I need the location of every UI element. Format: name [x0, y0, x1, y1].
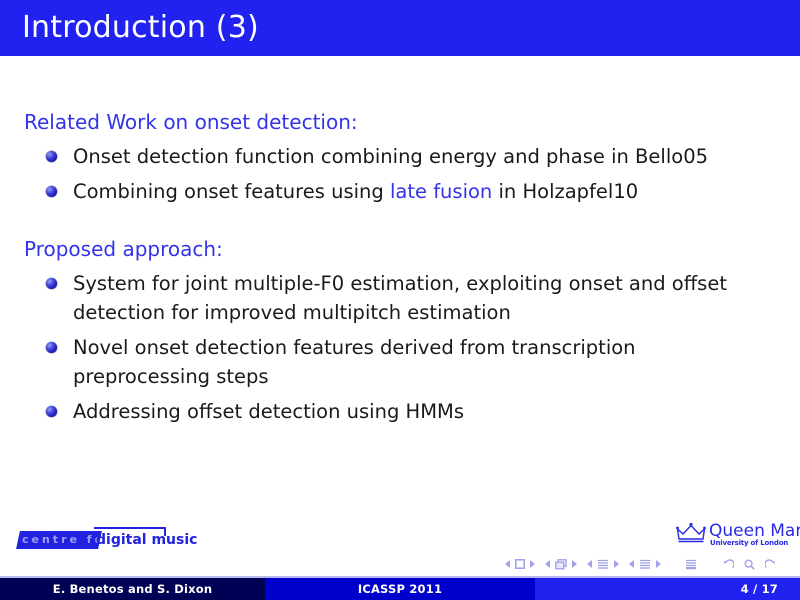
search-icon[interactable]	[744, 559, 755, 570]
list-item: Combining onset features using late fusi…	[0, 177, 800, 206]
list-item-text: System for joint multiple-F0 estimation,…	[73, 272, 727, 324]
crown-icon	[676, 522, 706, 544]
nav-group-section[interactable]	[629, 559, 661, 570]
content-block-proposed-approach: Proposed approach: System for joint mult…	[0, 236, 800, 426]
queen-mary-subtitle: University of London	[710, 539, 788, 548]
footer-conference: ICASSP 2011	[265, 578, 535, 600]
list-item-text: Addressing offset detection using HMMs	[73, 400, 464, 423]
section-next-icon[interactable]	[655, 560, 661, 568]
back-icon[interactable]	[723, 559, 734, 570]
section-prev-icon[interactable]	[629, 560, 635, 568]
list-item-text: Novel onset detection features derived f…	[73, 336, 636, 388]
list-item-text-tail: in Holzapfel10	[492, 180, 638, 203]
footer-page-number: 4 / 17	[535, 578, 800, 600]
nav-group-subsection[interactable]	[587, 559, 619, 570]
bullet-list: System for joint multiple-F0 estimation,…	[0, 269, 800, 426]
block-heading: Proposed approach:	[24, 236, 800, 262]
footer-authors: E. Benetos and S. Dixon	[0, 578, 265, 600]
list-item: Onset detection function combining energ…	[0, 142, 800, 171]
slide: Introduction (3) Related Work on onset d…	[0, 0, 800, 600]
frame-prev-icon[interactable]	[545, 560, 551, 568]
list-item-text: Onset detection function combining energ…	[73, 145, 708, 168]
list-item: Novel onset detection features derived f…	[0, 333, 800, 391]
slide-title-bar: Introduction (3)	[0, 0, 800, 56]
slide-body: Related Work on onset detection: Onset d…	[0, 56, 800, 515]
nav-group-frame[interactable]	[545, 559, 577, 570]
bullet-ball-icon	[46, 186, 57, 197]
slide-next-icon[interactable]	[529, 560, 535, 568]
slide-icon[interactable]	[515, 559, 525, 569]
list-item-text: Combining onset features using	[73, 180, 390, 203]
slide-prev-icon[interactable]	[505, 560, 511, 568]
queen-mary-name: Queen Mary	[709, 521, 800, 541]
bullet-ball-icon	[46, 151, 57, 162]
section-icon[interactable]	[639, 559, 651, 570]
c4dm-logo: centre for digital music	[18, 527, 168, 553]
subsection-next-icon[interactable]	[613, 560, 619, 568]
c4dm-logo-rule	[94, 527, 166, 529]
list-item: Addressing offset detection using HMMs	[0, 397, 800, 426]
bullet-ball-icon	[46, 342, 57, 353]
frame-icon[interactable]	[555, 559, 567, 570]
beamer-navigation-symbols[interactable]	[505, 555, 795, 573]
c4dm-logo-word: digital music	[96, 532, 197, 549]
nav-group-slide[interactable]	[505, 559, 535, 569]
subsection-prev-icon[interactable]	[587, 560, 593, 568]
footer: E. Benetos and S. Dixon ICASSP 2011 4 / …	[0, 578, 800, 600]
forward-icon[interactable]	[765, 559, 776, 570]
frame-next-icon[interactable]	[571, 560, 577, 568]
queen-mary-logo: Queen Mary University of London	[676, 520, 788, 552]
page-title: Introduction (3)	[22, 9, 259, 47]
bullet-ball-icon	[46, 278, 57, 289]
bullet-list: Onset detection function combining energ…	[0, 142, 800, 206]
block-heading: Related Work on onset detection:	[24, 109, 800, 135]
list-item: System for joint multiple-F0 estimation,…	[0, 269, 800, 327]
appendix-icon[interactable]	[685, 559, 697, 570]
bullet-ball-icon	[46, 406, 57, 417]
highlighted-term: late fusion	[390, 180, 492, 203]
subsection-icon[interactable]	[597, 559, 609, 570]
c4dm-logo-faint-text: centre for	[22, 533, 98, 547]
content-block-related-work: Related Work on onset detection: Onset d…	[0, 109, 800, 206]
